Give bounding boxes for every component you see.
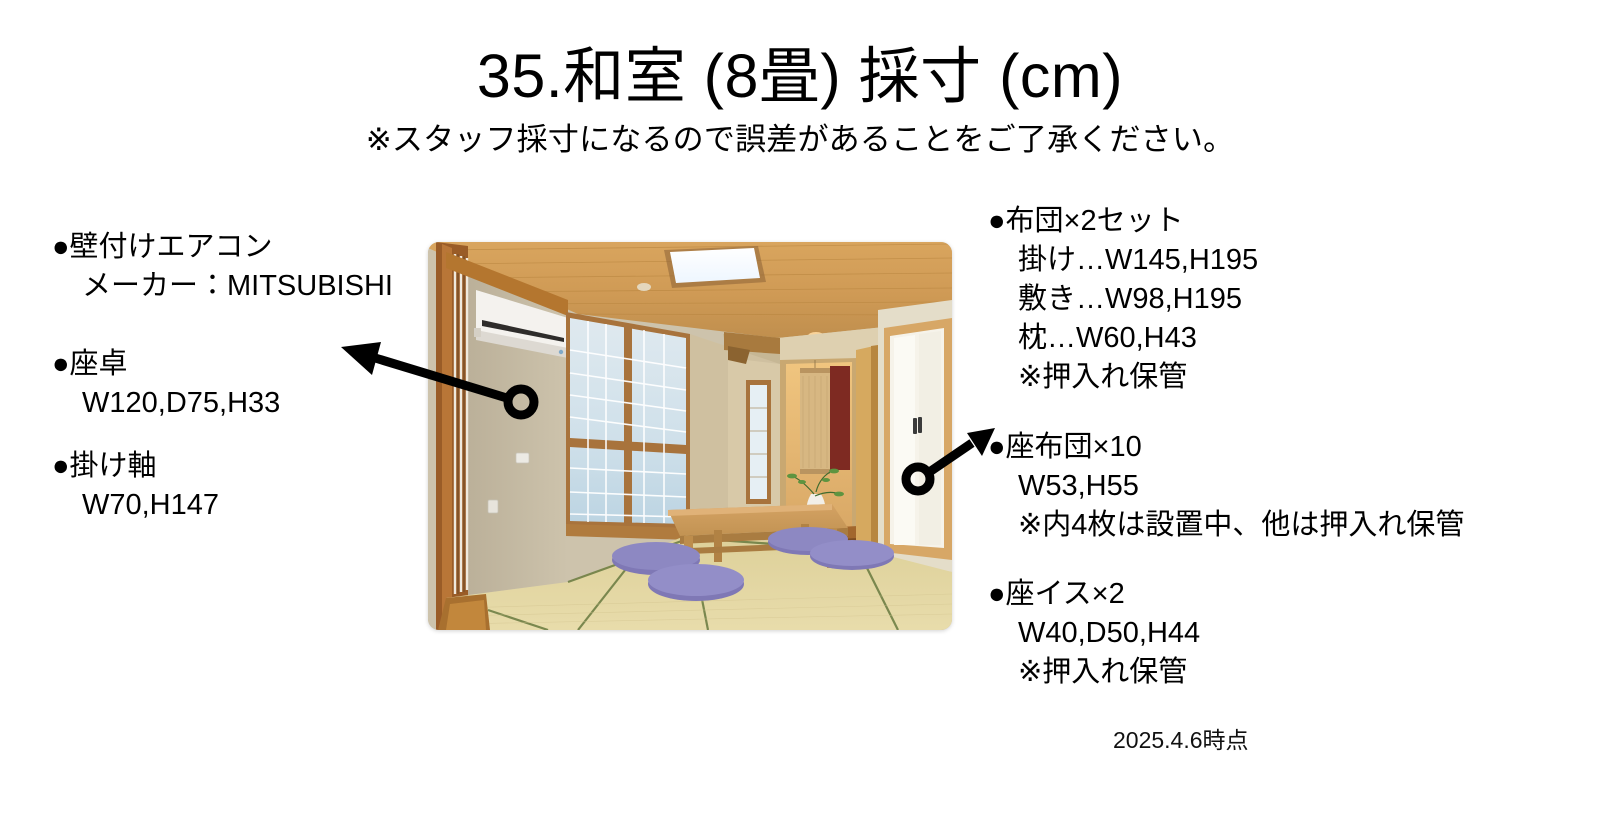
narrow-vertical-window	[746, 380, 771, 504]
wall-outlet	[488, 500, 498, 513]
page-title: 35.和室 (8畳) 採寸 (cm)	[0, 46, 1600, 107]
annotation-low-table: ●座卓 W120,D75,H33	[52, 345, 280, 423]
title-block: 35.和室 (8畳) 採寸 (cm) ※スタッフ採寸になるので誤差があることをご…	[0, 46, 1600, 155]
room-photo-illustration	[428, 242, 952, 630]
annotation-detail: W120,D75,H33	[52, 384, 280, 423]
date-stamp: 2025.4.6時点	[1113, 729, 1249, 752]
closet-sliding-doors	[884, 318, 952, 560]
annotation-heading: ●座イス×2	[988, 575, 1200, 614]
annotation-detail: 掛け…W145,H195	[988, 241, 1258, 280]
annotation-note: ※押入れ保管	[988, 653, 1200, 692]
annotation-note: ※内4枚は設置中、他は押入れ保管	[988, 506, 1464, 545]
annotation-detail: 敷き…W98,H195	[988, 280, 1258, 319]
annotation-detail: 枕…W60,H43	[988, 319, 1258, 358]
annotation-heading: ●座卓	[52, 345, 280, 384]
annotation-detail: W53,H55	[988, 467, 1464, 506]
shoji-window	[566, 312, 690, 540]
annotation-detail: W70,H147	[52, 486, 219, 525]
annotation-heading: ●座布団×10	[988, 428, 1464, 467]
page-subtitle: ※スタッフ採寸になるので誤差があることをご了承ください。	[0, 124, 1600, 155]
wall-switch	[516, 453, 529, 463]
annotation-heading: ●壁付けエアコン	[52, 228, 393, 267]
closet-door-handle-right	[918, 417, 922, 433]
hanging-scroll	[800, 360, 830, 474]
annotation-air-conditioner: ●壁付けエアコン メーカー：MITSUBISHI	[52, 228, 393, 306]
closet-door-handle-left	[913, 418, 917, 434]
ceiling-light	[664, 246, 766, 288]
annotation-heading: ●掛け軸	[52, 447, 219, 486]
annotation-floor-cushions: ●座布団×10 W53,H55 ※内4枚は設置中、他は押入れ保管	[988, 428, 1464, 545]
washitsu-room-photo	[428, 242, 952, 630]
annotation-detail: W40,D50,H44	[988, 614, 1200, 653]
annotation-floor-chairs: ●座イス×2 W40,D50,H44 ※押入れ保管	[988, 575, 1200, 692]
annotation-hanging-scroll: ●掛け軸 W70,H147	[52, 447, 219, 525]
annotation-detail: メーカー：MITSUBISHI	[52, 267, 393, 306]
annotation-futon-sets: ●布団×2セット 掛け…W145,H195 敷き…W98,H195 枕…W60,…	[988, 202, 1258, 397]
annotation-heading: ●布団×2セット	[988, 202, 1258, 241]
annotation-note: ※押入れ保管	[988, 358, 1258, 397]
